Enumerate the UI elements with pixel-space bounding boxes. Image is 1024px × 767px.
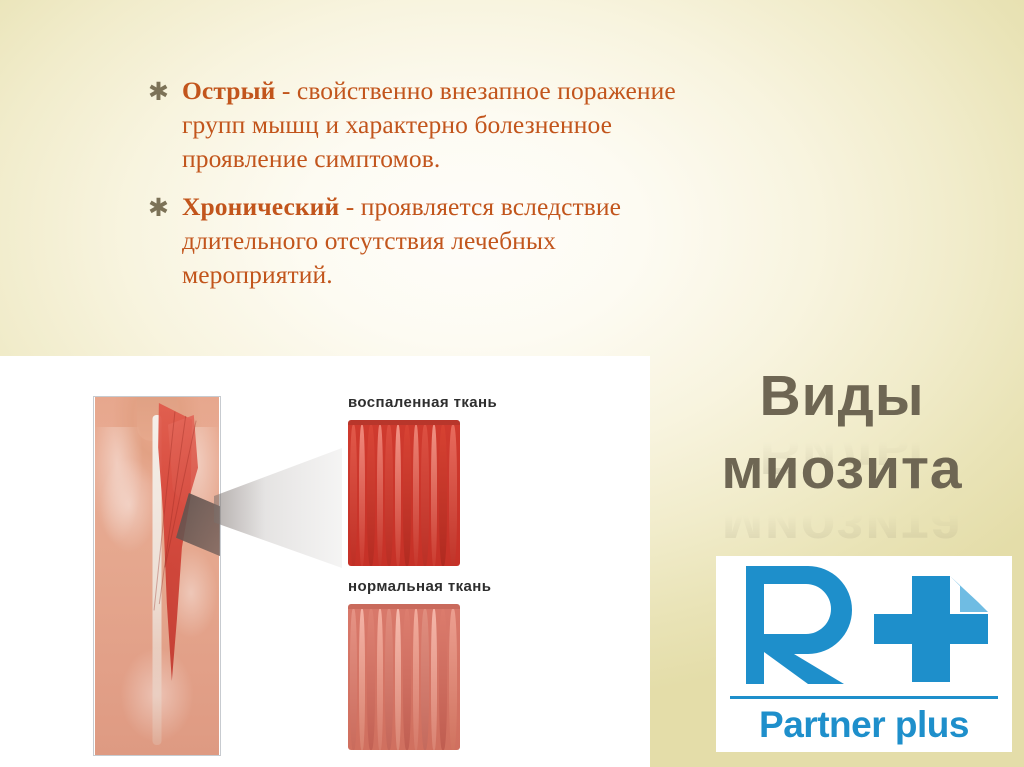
tissue-fiber [395,609,401,750]
scapula-shading-left [100,457,158,553]
logo-divider [730,696,998,699]
tissue-fiber [350,609,357,750]
asterisk-bullet-icon: ✱ [148,190,182,226]
list-item: ✱ Острый - свойственно внезапное поражен… [148,74,708,176]
tissue-fiber [421,609,429,750]
tissue-fiber [403,609,411,750]
partner-plus-logo: Partner plus [716,556,1012,752]
tissue-fiber [439,425,447,566]
tissue-fiber [431,609,437,750]
bullet-text: Хронический - проявляется вследствие дли… [182,190,708,292]
illustration-panel: воспаленная ткань нормальная ткань [0,356,650,767]
bullet-lead-term: Хронический [182,192,339,221]
tissue-fiber [385,425,393,566]
tissue-fiber [431,425,437,566]
anatomy-figure [93,396,221,756]
title-line-2: миозита миозита [672,441,1012,498]
slide-title: Виды Виды миозита миозита [672,368,1012,558]
tissue-fiber [359,609,365,750]
inflamed-tissue-label: воспаленная ткань [348,394,497,411]
logo-mark-icon [716,556,1012,694]
tissue-fiber [377,425,383,566]
normal-tissue-block [348,604,460,750]
slide-canvas: ✱ Острый - свойственно внезапное поражен… [0,0,1024,767]
tissue-fiber [385,609,393,750]
bullet-text: Острый - свойственно внезапное поражение… [182,74,708,176]
tissue-fiber [367,609,375,750]
tissue-fiber [350,425,357,566]
inflamed-tissue-block [348,420,460,566]
asterisk-bullet-icon: ✱ [148,74,182,110]
callout-cone [214,448,342,568]
bullet-list: ✱ Острый - свойственно внезапное поражен… [148,74,708,306]
tissue-fiber [439,609,447,750]
bullet-lead-term: Острый [182,76,275,105]
bullet-separator: - [339,192,361,221]
title-line-2-reflection: миозита [672,498,1012,555]
tissue-fiber [421,425,429,566]
list-item: ✱ Хронический - проявляется вследствие д… [148,190,708,292]
tissue-fiber [377,609,383,750]
normal-tissue-label: нормальная ткань [348,578,491,595]
title-line-1: Виды Виды [672,368,1012,425]
tissue-fiber [403,425,411,566]
logo-wordmark: Partner plus [716,704,1012,746]
tissue-fiber [367,425,375,566]
tissue-fiber [449,425,457,566]
bullet-separator: - [275,76,297,105]
tissue-fiber [413,609,419,750]
tissue-fiber [359,425,365,566]
tissue-fiber [395,425,401,566]
title-line-1-text: Виды [759,364,924,428]
title-line-2-text: миозита [721,437,962,501]
tissue-fiber [449,609,457,750]
tissue-fiber [413,425,419,566]
